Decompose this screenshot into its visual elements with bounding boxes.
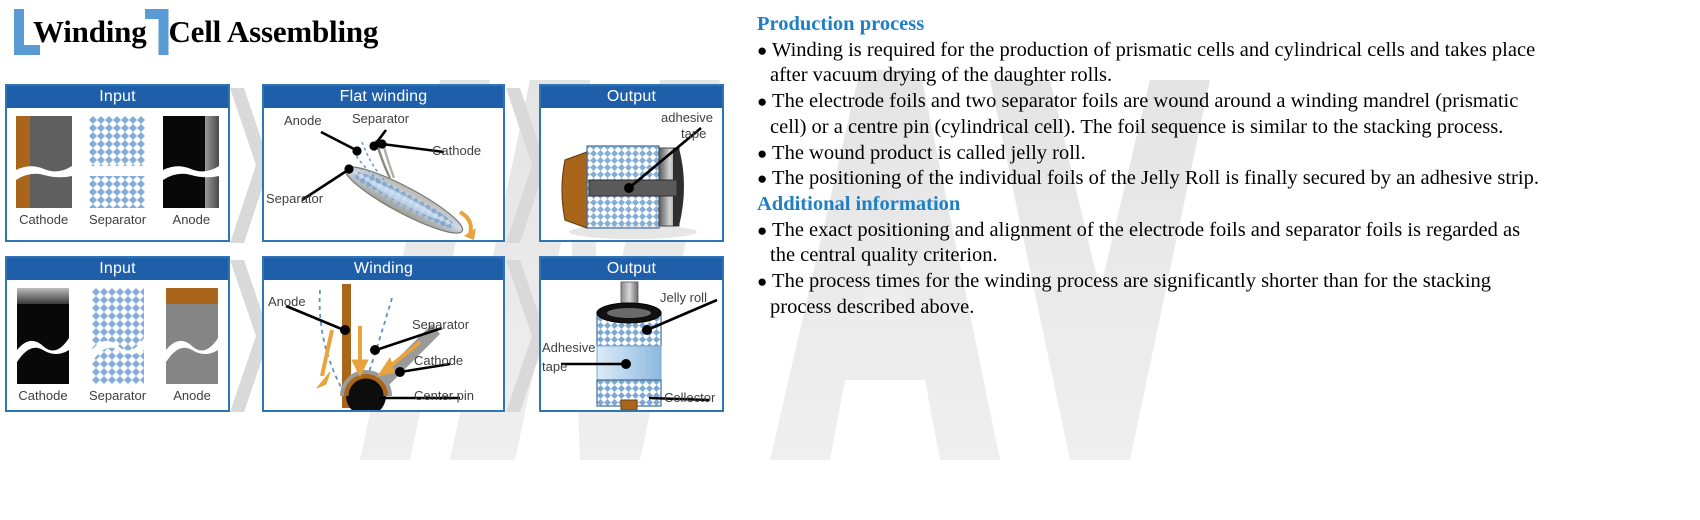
bullet-item: ● Winding is required for the production… bbox=[757, 38, 1547, 89]
panel-output-prismatic[interactable]: Output bbox=[539, 84, 724, 242]
bullet-item: ● The exact positioning and alignment of… bbox=[757, 218, 1547, 269]
label-adhesive: Adhesive bbox=[542, 340, 595, 355]
label-anode: Anode bbox=[268, 294, 306, 309]
cathode-foil-icon bbox=[17, 288, 69, 384]
bullet-text: Winding is required for the production o… bbox=[770, 39, 1535, 87]
label-center-pin: Center pin bbox=[414, 388, 474, 403]
panel-winding-cylindrical[interactable]: Winding bbox=[262, 256, 505, 412]
panel-output-cylindrical[interactable]: Output bbox=[539, 256, 724, 412]
label-collector: Collector bbox=[664, 390, 715, 405]
panel-body-flat-winding: Anode Separator Cathode Separator bbox=[264, 108, 503, 240]
panel-body-input-cylindrical: Cathode Separator bbox=[7, 280, 228, 410]
bullet-dot: ● bbox=[757, 92, 767, 111]
panel-header-flat-winding: Flat winding bbox=[264, 86, 503, 108]
bullet-text: The electrode foils and two separator fo… bbox=[770, 90, 1518, 138]
anode-foil-icon bbox=[166, 288, 218, 384]
label-adhesive: adhesive bbox=[661, 110, 713, 125]
label-tape: tape bbox=[542, 359, 567, 374]
bullet-text: The exact positioning and alignment of t… bbox=[770, 219, 1520, 267]
separator-mesh-icon bbox=[89, 116, 145, 208]
bullet-item: ● The process times for the winding proc… bbox=[757, 269, 1547, 320]
label-anode: Anode bbox=[284, 113, 322, 128]
label-tape: tape bbox=[681, 126, 706, 141]
heading-production-process: Production process bbox=[757, 12, 1547, 38]
panel-body-winding-cylindrical: Anode Separator Cathode Center pin bbox=[264, 280, 503, 410]
title-segment-cell-assembling: Cell Assembling bbox=[169, 14, 379, 50]
bullet-item: ● The wound product is called jelly roll… bbox=[757, 141, 1547, 167]
swatch-caption: Separator bbox=[89, 388, 146, 403]
swatch-caption: Separator bbox=[89, 212, 146, 227]
label-cathode: Cathode bbox=[432, 143, 481, 158]
panel-input-prismatic[interactable]: Input Cathode bbox=[5, 84, 230, 242]
swatch-separator: Separator bbox=[89, 288, 146, 403]
bullet-dot: ● bbox=[757, 169, 767, 188]
label-separator-top: Separator bbox=[352, 111, 409, 126]
panel-header-input-cylindrical: Input bbox=[7, 258, 228, 280]
label-cathode: Cathode bbox=[414, 353, 463, 368]
panel-body-input-prismatic: Cathode Separator bbox=[7, 108, 228, 240]
label-jelly-roll: Jelly roll bbox=[660, 290, 707, 305]
swatch-anode: Anode bbox=[166, 288, 218, 403]
swatch-caption: Anode bbox=[173, 388, 211, 403]
bullet-dot: ● bbox=[757, 144, 767, 163]
swatch-anode: Anode bbox=[163, 116, 219, 227]
bullet-item: ● The positioning of the individual foil… bbox=[757, 166, 1547, 192]
panel-body-output-prismatic: adhesive tape bbox=[541, 108, 722, 240]
cathode-foil-icon bbox=[16, 116, 72, 208]
page-title: Winding Cell Assembling bbox=[14, 8, 378, 56]
swatch-cathode: Cathode bbox=[17, 288, 69, 403]
title-segment-winding: Winding bbox=[33, 14, 147, 50]
heading-additional-information: Additional information bbox=[757, 192, 1547, 218]
bullet-text: The process times for the winding proces… bbox=[770, 270, 1491, 318]
description-text-column: Production process ● Winding is required… bbox=[757, 12, 1547, 321]
panel-header-output-cylindrical: Output bbox=[541, 258, 722, 280]
label-separator-bottom: Separator bbox=[266, 191, 323, 206]
swatch-caption: Cathode bbox=[19, 212, 68, 227]
swatch-caption: Anode bbox=[173, 212, 211, 227]
swatch-separator: Separator bbox=[89, 116, 146, 227]
anode-foil-icon bbox=[163, 116, 219, 208]
separator-mesh-icon bbox=[92, 288, 144, 384]
panel-body-output-cylindrical: Jelly roll Adhesive tape Collector bbox=[541, 280, 722, 410]
swatch-cathode: Cathode bbox=[16, 116, 72, 227]
bullet-item: ● The electrode foils and two separator … bbox=[757, 89, 1547, 140]
label-separator: Separator bbox=[412, 317, 469, 332]
bullet-dot: ● bbox=[757, 221, 767, 240]
bullet-dot: ● bbox=[757, 272, 767, 291]
panel-flat-winding[interactable]: Flat winding bbox=[262, 84, 505, 242]
panel-input-cylindrical[interactable]: Input Cathode bbox=[5, 256, 230, 412]
panel-header-winding: Winding bbox=[264, 258, 503, 280]
bracket-right-decoration bbox=[145, 9, 169, 55]
panel-header-input: Input bbox=[7, 86, 228, 108]
bullet-text: The wound product is called jelly roll. bbox=[772, 142, 1086, 164]
panel-header-output-prismatic: Output bbox=[541, 86, 722, 108]
bullet-dot: ● bbox=[757, 41, 767, 60]
bullet-text: The positioning of the individual foils … bbox=[772, 167, 1539, 189]
swatch-caption: Cathode bbox=[18, 388, 67, 403]
